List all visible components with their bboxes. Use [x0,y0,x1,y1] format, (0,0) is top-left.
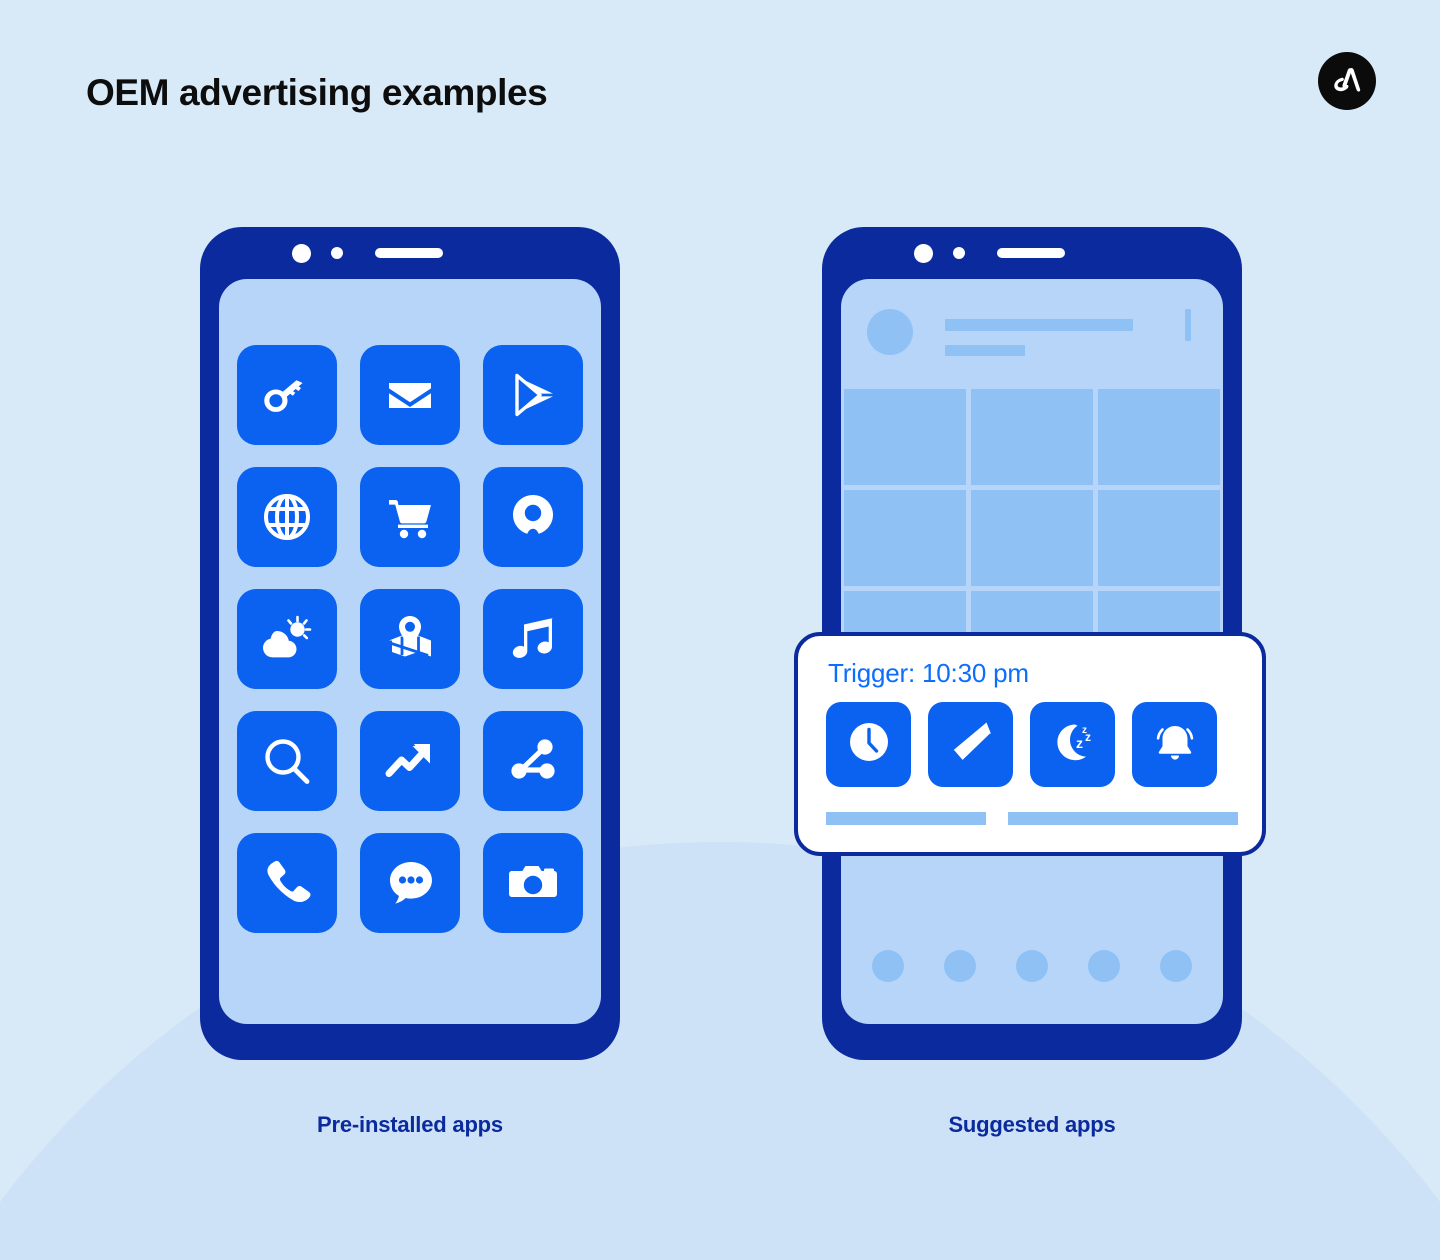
dock-item[interactable] [944,950,976,982]
chat-bubble-icon [381,854,439,912]
app-icon-music[interactable] [483,589,583,689]
notif-app-icon-clock[interactable] [826,702,911,787]
bell-icon [1149,716,1201,773]
placeholder-line [826,812,986,825]
sensor-dot-icon [331,247,343,259]
placeholder-line [945,345,1025,356]
wireframe-dock [872,950,1192,982]
app-grid [237,345,583,933]
app-icon-camera[interactable] [483,833,583,933]
content-cell[interactable] [971,490,1093,586]
app-icon-search[interactable] [237,711,337,811]
wireframe-content-grid [844,389,1220,653]
speaker-pill-icon [997,248,1065,258]
share-icon [504,732,562,790]
app-icon-weather[interactable] [237,589,337,689]
app-icon-trends[interactable] [360,711,460,811]
camera-dot-icon [292,244,311,263]
book-icon [945,716,997,773]
page-title: OEM advertising examples [86,72,547,114]
camera-dot-icon [914,244,933,263]
phone-icon [258,854,316,912]
notif-app-icon-sleep[interactable]: z z z [1030,702,1115,787]
phone-screen-pre-installed [219,279,601,1024]
content-cell[interactable] [1098,490,1220,586]
content-cell[interactable] [844,490,966,586]
weather-icon [258,610,316,668]
app-icon-mail[interactable] [360,345,460,445]
mail-icon [381,366,439,424]
notif-app-icon-book[interactable] [928,702,1013,787]
dock-item[interactable] [1016,950,1048,982]
app-icon-messages[interactable] [360,833,460,933]
placeholder-line [1008,812,1238,825]
app-icon-shopping[interactable] [360,467,460,567]
shopping-cart-icon [381,488,439,546]
contact-icon [504,488,562,546]
notification-icon-row: z z z [826,702,1217,787]
search-icon [258,732,316,790]
camera-icon [504,854,562,912]
svg-text:z: z [1085,730,1091,744]
sensor-dot-icon [953,247,965,259]
illustration-canvas: OEM advertising examples [0,0,1440,1260]
notif-app-icon-alarm[interactable] [1132,702,1217,787]
app-icon-play-store[interactable] [483,345,583,445]
play-store-icon [504,366,562,424]
content-cell[interactable] [844,389,966,485]
moon-sleep-icon: z z z [1047,716,1099,773]
app-icon-share[interactable] [483,711,583,811]
app-icon-key[interactable] [237,345,337,445]
caption-pre-installed-apps: Pre-installed apps [200,1112,620,1138]
suggested-apps-notification-card[interactable]: Trigger: 10:30 pm [794,632,1266,856]
appsflyer-a-logo-icon [1318,52,1376,110]
svg-text:z: z [1076,735,1083,751]
dock-item[interactable] [1088,950,1120,982]
caption-suggested-apps: Suggested apps [822,1112,1242,1138]
clock-icon [843,716,895,773]
notification-trigger-label: Trigger: 10:30 pm [828,658,1029,689]
avatar-placeholder-icon [867,309,913,355]
placeholder-line [945,319,1133,331]
app-icon-browser[interactable] [237,467,337,567]
globe-icon [258,488,316,546]
dock-item[interactable] [872,950,904,982]
content-cell[interactable] [1098,389,1220,485]
notification-placeholder-bars [826,812,1238,825]
trending-up-icon [381,732,439,790]
dock-item[interactable] [1160,950,1192,982]
content-cell[interactable] [971,389,1093,485]
app-icon-contacts[interactable] [483,467,583,567]
phone-bezel [822,227,1242,279]
scroll-indicator-icon[interactable] [1185,309,1191,341]
music-note-icon [504,610,562,668]
key-icon [258,366,316,424]
phone-bezel [200,227,620,279]
map-pin-icon [381,610,439,668]
phone-pre-installed [200,227,620,1060]
app-icon-maps[interactable] [360,589,460,689]
speaker-pill-icon [375,248,443,258]
app-icon-phone[interactable] [237,833,337,933]
